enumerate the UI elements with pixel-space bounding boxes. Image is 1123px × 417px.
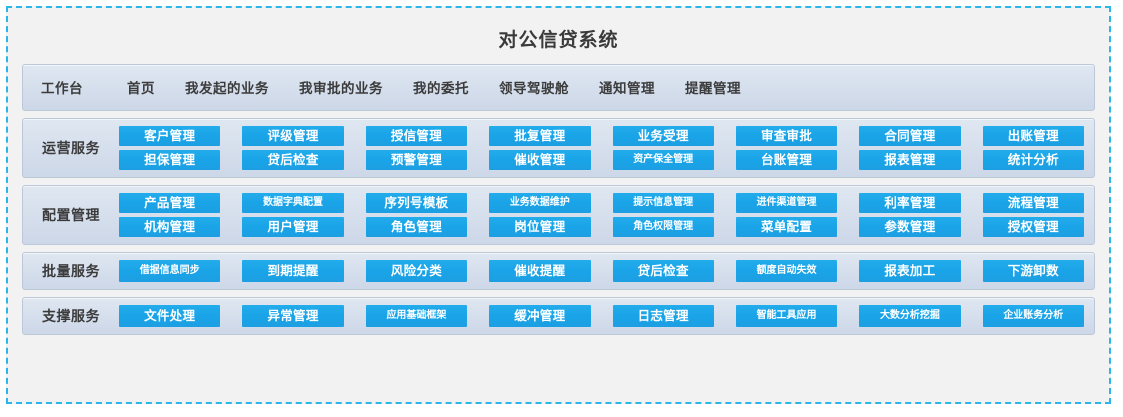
menu-tile[interactable]: 参数管理 (859, 217, 960, 237)
menu-tile[interactable]: 授信管理 (366, 126, 467, 146)
menu-tile[interactable]: 产品管理 (119, 193, 220, 213)
menu-tile[interactable]: 角色权限管理 (613, 217, 714, 237)
application-frame: 对公信贷系统 工作台首页我发起的业务我审批的业务我的委托领导驾驶舱通知管理提醒管… (6, 6, 1111, 404)
menu-tile[interactable]: 审查审批 (736, 126, 837, 146)
nav-item-7[interactable]: 提醒管理 (685, 77, 741, 97)
nav-item-4[interactable]: 我的委托 (413, 77, 469, 97)
menu-tile[interactable]: 文件处理 (119, 305, 220, 327)
menu-tile[interactable]: 担保管理 (119, 150, 220, 170)
menu-tile[interactable]: 利率管理 (859, 193, 960, 213)
section-grid-2: 借据信息同步到期提醒风险分类催收提醒贷后检查额度自动失效报表加工下游卸数 (119, 260, 1084, 282)
menu-tile[interactable]: 进件渠道管理 (736, 193, 837, 213)
main-navigation-bar: 工作台首页我发起的业务我审批的业务我的委托领导驾驶舱通知管理提醒管理 (22, 64, 1095, 111)
menu-tile[interactable]: 提示信息管理 (613, 193, 714, 213)
menu-tile[interactable]: 企业账务分析 (983, 305, 1084, 327)
menu-tile[interactable]: 贷后检查 (242, 150, 343, 170)
menu-tile[interactable]: 催收管理 (489, 150, 590, 170)
menu-tile[interactable]: 日志管理 (613, 305, 714, 327)
menu-tile[interactable]: 用户管理 (242, 217, 343, 237)
menu-tile[interactable]: 岗位管理 (489, 217, 590, 237)
menu-tile[interactable]: 数据字典配置 (242, 193, 343, 213)
section-label-3: 支撑服务 (23, 306, 119, 326)
menu-tile[interactable]: 菜单配置 (736, 217, 837, 237)
nav-item-5[interactable]: 领导驾驶舱 (499, 77, 569, 97)
section-grid-1: 产品管理数据字典配置序列号模板业务数据维护提示信息管理进件渠道管理利率管理流程管… (119, 193, 1084, 237)
menu-tile[interactable]: 业务数据维护 (489, 193, 590, 213)
menu-tile[interactable]: 智能工具应用 (736, 305, 837, 327)
menu-tile[interactable]: 合同管理 (859, 126, 960, 146)
menu-tile[interactable]: 异常管理 (242, 305, 343, 327)
menu-tile[interactable]: 台账管理 (736, 150, 837, 170)
menu-tile[interactable]: 风险分类 (366, 260, 467, 282)
menu-tile[interactable]: 序列号模板 (366, 193, 467, 213)
menu-tile[interactable]: 出账管理 (983, 126, 1084, 146)
nav-item-1[interactable]: 首页 (127, 77, 155, 97)
menu-tile[interactable]: 资产保全管理 (613, 150, 714, 170)
menu-tile[interactable]: 客户管理 (119, 126, 220, 146)
menu-tile[interactable]: 业务受理 (613, 126, 714, 146)
menu-tile[interactable]: 借据信息同步 (119, 260, 220, 282)
nav-item-3[interactable]: 我审批的业务 (299, 77, 383, 97)
nav-item-2[interactable]: 我发起的业务 (185, 77, 269, 97)
section-label-0: 运营服务 (23, 138, 119, 158)
section-grid-3: 文件处理异常管理应用基础框架缓冲管理日志管理智能工具应用大数分析挖掘企业账务分析 (119, 305, 1084, 327)
section-label-2: 批量服务 (23, 261, 119, 281)
menu-tile[interactable]: 角色管理 (366, 217, 467, 237)
nav-item-0[interactable]: 工作台 (41, 77, 83, 97)
menu-tile[interactable]: 报表管理 (859, 150, 960, 170)
menu-tile[interactable]: 统计分析 (983, 150, 1084, 170)
menu-tile[interactable]: 评级管理 (242, 126, 343, 146)
section-panel-3: 支撑服务文件处理异常管理应用基础框架缓冲管理日志管理智能工具应用大数分析挖掘企业… (22, 297, 1095, 335)
section-panel-0: 运营服务客户管理评级管理授信管理批复管理业务受理审查审批合同管理出账管理担保管理… (22, 118, 1095, 178)
menu-tile[interactable]: 报表加工 (859, 260, 960, 282)
page-title: 对公信贷系统 (8, 8, 1109, 64)
menu-tile[interactable]: 到期提醒 (242, 260, 343, 282)
nav-item-6[interactable]: 通知管理 (599, 77, 655, 97)
menu-tile[interactable]: 大数分析挖掘 (859, 305, 960, 327)
menu-tile[interactable]: 授权管理 (983, 217, 1084, 237)
menu-tile[interactable]: 预警管理 (366, 150, 467, 170)
section-panel-1: 配置管理产品管理数据字典配置序列号模板业务数据维护提示信息管理进件渠道管理利率管… (22, 185, 1095, 245)
menu-tile[interactable]: 缓冲管理 (489, 305, 590, 327)
section-panel-2: 批量服务借据信息同步到期提醒风险分类催收提醒贷后检查额度自动失效报表加工下游卸数 (22, 252, 1095, 290)
menu-tile[interactable]: 机构管理 (119, 217, 220, 237)
section-grid-0: 客户管理评级管理授信管理批复管理业务受理审查审批合同管理出账管理担保管理贷后检查… (119, 126, 1084, 170)
menu-tile[interactable]: 额度自动失效 (736, 260, 837, 282)
menu-tile[interactable]: 催收提醒 (489, 260, 590, 282)
section-label-1: 配置管理 (23, 205, 119, 225)
menu-tile[interactable]: 应用基础框架 (366, 305, 467, 327)
menu-tile[interactable]: 批复管理 (489, 126, 590, 146)
sections-container: 运营服务客户管理评级管理授信管理批复管理业务受理审查审批合同管理出账管理担保管理… (8, 118, 1109, 335)
menu-tile[interactable]: 下游卸数 (983, 260, 1084, 282)
menu-tile[interactable]: 流程管理 (983, 193, 1084, 213)
menu-tile[interactable]: 贷后检查 (613, 260, 714, 282)
